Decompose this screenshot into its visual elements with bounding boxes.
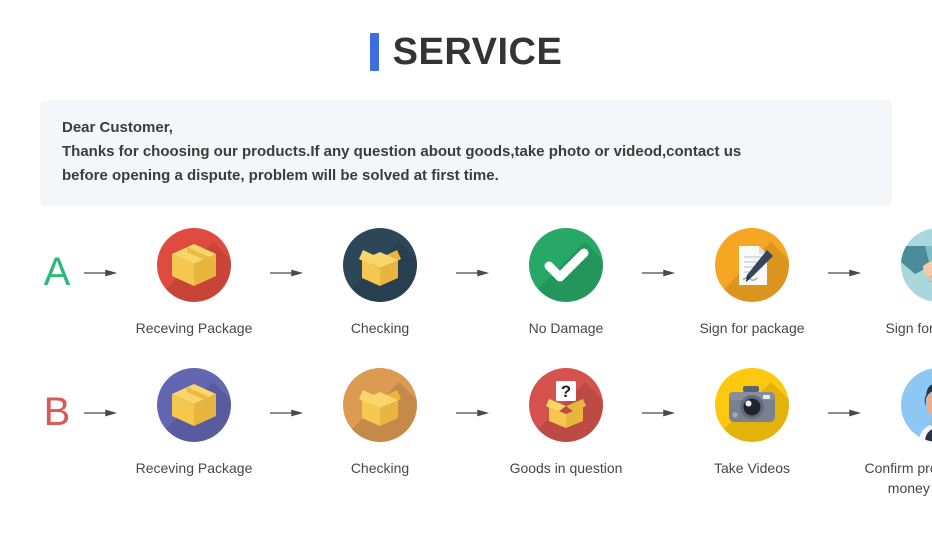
notice-greeting: Dear Customer, (62, 116, 870, 140)
closed-box-art (157, 228, 231, 302)
open-box-art (343, 228, 417, 302)
flow-step: Receving Package (124, 368, 264, 478)
camera-icon (715, 368, 789, 442)
camera-art (715, 368, 789, 442)
customer-notice-box: Dear Customer, Thanks for choosing our p… (40, 100, 892, 206)
flow-step: ? Goods in question (496, 368, 636, 478)
flow-step: No Damage (496, 228, 636, 338)
open-box-icon (343, 228, 417, 302)
flow-step-label: Goods in question (510, 458, 623, 478)
flow-step: Confirm problem,refund money or reship (868, 368, 932, 498)
flow-row-a: A Receving Package (0, 228, 932, 338)
open-box-icon (343, 368, 417, 442)
flow-step-label: Checking (351, 318, 409, 338)
flow-letter-b: B (36, 368, 78, 432)
flow-step: Sign for package (682, 228, 822, 338)
handshake-icon (901, 228, 932, 302)
arrow-right-icon (822, 368, 868, 420)
document-pen-art (715, 228, 789, 302)
question-box-art: ? (529, 368, 603, 442)
check-mark-art (529, 228, 603, 302)
person-avatar-icon (901, 368, 932, 442)
question-box-icon: ? (529, 368, 603, 442)
arrow-right-icon (822, 228, 868, 280)
flow-step: Take Videos (682, 368, 822, 478)
title-accent-bar (370, 33, 379, 71)
flow-step-label: Receving Package (136, 458, 253, 478)
flow-step-label: No Damage (529, 318, 604, 338)
flow-step-label: Take Videos (714, 458, 790, 478)
flow-step-label: Checking (351, 458, 409, 478)
arrow-right-icon (78, 368, 124, 420)
page-title-text: SERVICE (393, 33, 563, 71)
closed-box-art (157, 368, 231, 442)
notice-line-1: Thanks for choosing our products.If any … (62, 140, 870, 164)
check-mark-icon (529, 228, 603, 302)
closed-box-icon (157, 228, 231, 302)
open-box-art (343, 368, 417, 442)
arrow-right-icon (636, 228, 682, 280)
arrow-right-icon (450, 228, 496, 280)
document-pen-icon (715, 228, 789, 302)
flow-step: Sign for package (868, 228, 932, 338)
person-avatar-art (901, 368, 932, 442)
flow-step: Receving Package (124, 228, 264, 338)
flow-step-label: Receving Package (136, 318, 253, 338)
page-title: SERVICE (0, 0, 932, 80)
service-page: SERVICE Dear Customer, Thanks for choosi… (0, 0, 932, 550)
handshake-art (901, 228, 932, 302)
flow-step-label: Confirm problem,refund money or reship (858, 458, 932, 498)
flow-step: Checking (310, 368, 450, 478)
arrow-right-icon (78, 228, 124, 280)
arrow-right-icon (636, 368, 682, 420)
flow-row-b: B Receving Package (0, 368, 932, 498)
arrow-right-icon (264, 368, 310, 420)
closed-box-icon (157, 368, 231, 442)
arrow-right-icon (450, 368, 496, 420)
arrow-right-icon (264, 228, 310, 280)
flow-step-label: Sign for package (699, 318, 804, 338)
flow-step: Checking (310, 228, 450, 338)
notice-line-2: before opening a dispute, problem will b… (62, 164, 870, 188)
flow-letter-a: A (36, 228, 78, 292)
svg-text:?: ? (561, 382, 571, 401)
flow-step-label: Sign for package (885, 318, 932, 338)
